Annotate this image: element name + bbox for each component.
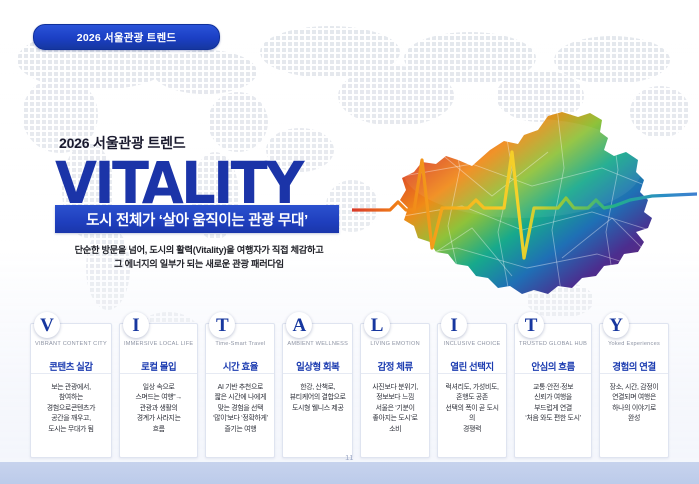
trend-card-row: V VIBRANT CONTENT CITY 콘텐츠 실감 보는 관광에서, 참… xyxy=(30,323,669,458)
card-korean-title: 시간 효율 xyxy=(223,359,258,373)
seoul-map-heartbeat-artwork xyxy=(352,108,697,298)
trend-card[interactable]: V VIBRANT CONTENT CITY 콘텐츠 실감 보는 관광에서, 참… xyxy=(30,323,112,458)
card-description: 교통·안전·정보 신뢰가 여행을 부드럽게 연결 ‘처음 와도 편한 도시’ xyxy=(515,374,591,457)
trend-card[interactable]: I INCLUSIVE CHOICE 열린 선택지 럭셔리도, 가성비도, 혼행… xyxy=(437,323,507,458)
card-letter-badge-icon: V xyxy=(34,312,60,338)
slide-root: 2026 서울관광 트렌드 2026 서울관광 트렌드 VITALITY 도시 … xyxy=(0,0,699,484)
card-english-label: IMMERSIVE LOCAL LIFE xyxy=(124,341,193,348)
card-description: 장소, 시간, 감정이 연결되며 여행은 하나의 이야기로 완성 xyxy=(600,374,668,457)
slide-topic-badge-label: 2026 서울관광 트렌드 xyxy=(77,30,176,45)
card-description: 보는 관광에서, 참여하는 경험으로콘텐츠가 공간을 깨우고, 도시는 무대가 … xyxy=(31,374,111,457)
trend-card[interactable]: A AMBIENT WELLNESS 일상형 회복 한강, 산책로, 뷰티케어의… xyxy=(282,323,353,458)
card-korean-title: 콘텐츠 실감 xyxy=(49,359,92,373)
card-letter-badge-icon: T xyxy=(518,312,544,338)
card-letter-badge-icon: I xyxy=(123,312,149,338)
footer-band xyxy=(0,462,699,484)
trend-card[interactable]: T TRUSTED GLOBAL HUB 안심의 흐름 교통·안전·정보 신뢰가… xyxy=(514,323,592,458)
card-english-label: Time-Smart Travel xyxy=(215,341,265,348)
hero-keyword-vitality: VITALITY xyxy=(55,158,367,209)
slide-topic-badge: 2026 서울관광 트렌드 xyxy=(33,24,220,50)
card-description: AI 기반 추천으로 짧은 시간에 나에게 맞는 경험을 선택 ‘많이’보다 ‘… xyxy=(206,374,274,457)
trend-card[interactable]: Y Yoked Experiences 경험의 연결 장소, 시간, 감정이 연… xyxy=(599,323,669,458)
trend-card[interactable]: L LIVING EMOTION 감정 체류 사진보다 분위기, 정보보다 느낌… xyxy=(360,323,430,458)
page-number: 11 xyxy=(0,453,699,462)
card-description: 한강, 산책로, 뷰티케어의 결합으로 도시형 웰니스 제공 xyxy=(283,374,352,457)
card-korean-title: 안심의 흐름 xyxy=(531,359,574,373)
card-description: 사진보다 분위기, 정보보다 느낌 서울은 ‘기분이 좋아지는 도시’로 소비 xyxy=(361,374,429,457)
card-english-label: LIVING EMOTION xyxy=(370,341,420,348)
card-english-label: Yoked Experiences xyxy=(608,341,660,348)
card-korean-title: 경험의 연결 xyxy=(612,359,655,373)
hero-block: 2026 서울관광 트렌드 VITALITY 도시 전체가 ‘살아 움직이는 관… xyxy=(55,133,355,272)
card-letter-badge-icon: I xyxy=(441,312,467,338)
card-korean-title: 감정 체류 xyxy=(378,359,413,373)
card-description: 럭셔리도, 가성비도, 혼행도 공존 선택의 폭이 곧 도시의 경쟁력 xyxy=(438,374,506,457)
card-english-label: AMBIENT WELLNESS xyxy=(287,341,348,348)
card-letter-badge-icon: Y xyxy=(603,312,629,338)
card-english-label: INCLUSIVE CHOICE xyxy=(444,341,501,348)
card-letter-badge-icon: L xyxy=(364,312,390,338)
card-korean-title: 열린 선택지 xyxy=(450,359,493,373)
card-english-label: TRUSTED GLOBAL HUB xyxy=(519,341,587,348)
trend-card[interactable]: I IMMERSIVE LOCAL LIFE 로컬 몰입 일상 속으로 스며드는… xyxy=(119,323,198,458)
hero-lead-paragraph: 단순한 방문을 넘어, 도시의 활력(Vitality)을 여행자가 직접 체감… xyxy=(55,243,343,272)
card-korean-title: 일상형 회복 xyxy=(296,359,339,373)
card-english-label: VIBRANT CONTENT CITY xyxy=(35,341,107,348)
trend-card[interactable]: T Time-Smart Travel 시간 효율 AI 기반 추천으로 짧은 … xyxy=(205,323,275,458)
card-korean-title: 로컬 몰입 xyxy=(141,359,176,373)
card-description: 일상 속으로 스며드는 여행”→ 관광과 생활의 경계가 사라지는 흐름 xyxy=(120,374,197,457)
